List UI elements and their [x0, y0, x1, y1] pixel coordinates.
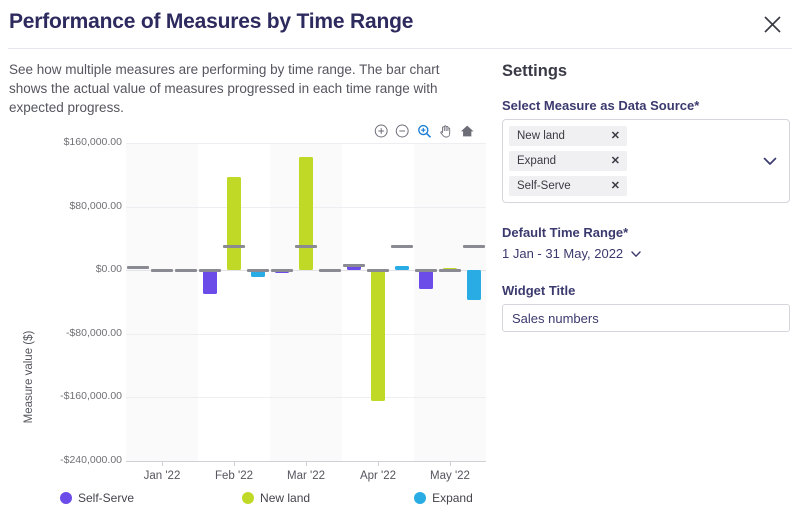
chevron-down-icon[interactable] — [761, 152, 779, 170]
x-axis-tick-mark — [378, 461, 379, 466]
y-axis-tick-label: -$160,000.00 — [24, 390, 122, 402]
x-axis-tick-label: Feb '22 — [199, 470, 269, 482]
x-axis-tick-label: May '22 — [415, 470, 485, 482]
y-axis-tick-label: $0.00 — [24, 263, 122, 275]
legend-item[interactable]: Expand — [414, 491, 473, 505]
legend-label: New land — [260, 491, 310, 505]
bar[interactable] — [371, 270, 385, 401]
pan-hand-icon[interactable] — [438, 123, 452, 139]
measure-chip[interactable]: New land✕ — [509, 126, 627, 146]
target-marker — [151, 269, 173, 272]
legend-color-dot — [414, 492, 426, 504]
y-axis-tick-label: -$80,000.00 — [24, 327, 122, 339]
remove-chip-icon[interactable]: ✕ — [611, 156, 620, 167]
target-marker — [367, 269, 389, 272]
target-marker — [199, 269, 221, 272]
x-axis-tick-label: Apr '22 — [343, 470, 413, 482]
zoom-out-icon[interactable] — [395, 123, 409, 139]
settings-panel: Settings Select Measure as Data Source* … — [502, 62, 792, 332]
gridline — [126, 397, 486, 398]
measure-chip-label: Self-Serve — [517, 180, 571, 192]
remove-chip-icon[interactable]: ✕ — [611, 131, 620, 142]
legend-color-dot — [242, 492, 254, 504]
measure-chip[interactable]: Expand✕ — [509, 151, 627, 171]
legend-label: Self-Serve — [78, 491, 134, 505]
measure-chip-label: New land — [517, 130, 565, 142]
widget-description: See how multiple measures are performing… — [9, 60, 477, 117]
chart-legend: Self-ServeNew landExpand — [60, 491, 473, 505]
page-title: Performance of Measures by Time Range — [9, 10, 413, 34]
x-axis-tick-mark — [234, 461, 235, 466]
legend-item[interactable]: New land — [242, 491, 310, 505]
measure-chip-label: Expand — [517, 155, 556, 167]
plot-band — [126, 143, 198, 461]
close-button[interactable] — [758, 10, 786, 38]
widget-configuration-dialog: Performance of Measures by Time Range Se… — [0, 0, 800, 514]
target-marker — [319, 269, 341, 272]
measure-field-label: Select Measure as Data Source* — [502, 98, 792, 113]
measure-chip[interactable]: Self-Serve✕ — [509, 176, 627, 196]
target-marker — [415, 269, 437, 272]
home-icon[interactable] — [460, 123, 474, 139]
legend-color-dot — [60, 492, 72, 504]
chevron-down-icon[interactable] — [630, 248, 642, 260]
target-marker — [439, 269, 461, 272]
gridline — [126, 334, 486, 335]
settings-heading: Settings — [502, 62, 792, 81]
chart-toolbar — [374, 121, 474, 141]
bar[interactable] — [299, 157, 313, 271]
remove-chip-icon[interactable]: ✕ — [611, 181, 620, 192]
dialog-header: Performance of Measures by Time Range — [0, 0, 800, 48]
x-axis-tick-mark — [450, 461, 451, 466]
x-axis-tick-label: Jan '22 — [127, 470, 197, 482]
plot-band — [414, 143, 486, 461]
time-range-selector[interactable]: 1 Jan - 31 May, 2022 — [502, 246, 792, 261]
legend-item[interactable]: Self-Serve — [60, 491, 134, 505]
y-axis-ticks: $160,000.00$80,000.00$0.00-$80,000.00-$1… — [0, 143, 122, 463]
bar[interactable] — [395, 266, 409, 270]
zoom-select-icon[interactable] — [417, 123, 431, 139]
time-range-field-label: Default Time Range* — [502, 225, 792, 240]
measure-chip-list: New land✕Expand✕Self-Serve✕ — [509, 126, 749, 196]
legend-label: Expand — [432, 491, 473, 505]
widget-title-field-label: Widget Title — [502, 283, 792, 298]
x-axis-tick-mark — [306, 461, 307, 466]
target-marker — [223, 245, 245, 248]
spacer — [502, 203, 792, 225]
widget-title-input[interactable] — [502, 304, 790, 332]
target-marker — [247, 269, 269, 272]
time-range-value: 1 Jan - 31 May, 2022 — [502, 246, 623, 261]
y-axis-tick-label: -$240,000.00 — [24, 454, 122, 466]
bar[interactable] — [203, 270, 217, 294]
target-marker — [391, 245, 413, 248]
y-axis-tick-label: $80,000.00 — [24, 200, 122, 212]
close-icon — [763, 15, 782, 34]
y-axis-tick-label: $160,000.00 — [24, 136, 122, 148]
target-marker — [463, 245, 485, 248]
x-axis-tick-mark — [162, 461, 163, 466]
gridline — [126, 143, 486, 144]
x-axis-tick-label: Mar '22 — [271, 470, 341, 482]
target-marker — [295, 245, 317, 248]
target-marker — [175, 269, 197, 272]
bar[interactable] — [467, 270, 481, 300]
bar[interactable] — [227, 177, 241, 270]
measures-bar-chart: Measure value ($) $160,000.00$80,000.00$… — [0, 143, 492, 514]
measure-multiselect[interactable]: New land✕Expand✕Self-Serve✕ — [502, 119, 790, 203]
plot-area — [126, 143, 486, 461]
target-marker — [343, 264, 365, 267]
header-divider — [8, 48, 792, 49]
spacer — [502, 261, 792, 283]
bar[interactable] — [419, 270, 433, 289]
target-marker — [127, 266, 149, 269]
zoom-in-icon[interactable] — [374, 123, 388, 139]
target-marker — [271, 269, 293, 272]
